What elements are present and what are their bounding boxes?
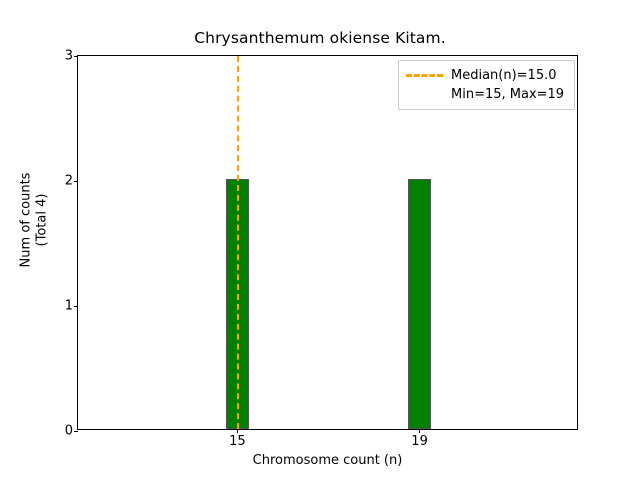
y-tick-mark bbox=[74, 306, 78, 307]
x-tick-mark bbox=[419, 429, 420, 433]
median-line bbox=[237, 56, 239, 429]
legend-label-median: Median(n)=15.0 bbox=[451, 68, 557, 83]
y-tick-label: 0 bbox=[65, 425, 73, 438]
legend-item-minmax: Min=15, Max=19 bbox=[406, 85, 567, 104]
x-axis-label: Chromosome count (n) bbox=[77, 453, 578, 468]
x-tick-mark bbox=[237, 429, 238, 433]
plot-inner bbox=[78, 56, 577, 429]
y-axis-label-line1: Num of counts bbox=[19, 173, 35, 268]
y-tick-label: 1 bbox=[65, 300, 73, 313]
legend-item-median: Median(n)=15.0 bbox=[406, 66, 567, 85]
legend-label-minmax: Min=15, Max=19 bbox=[451, 87, 564, 102]
y-axis-label: Num of counts (Total 4) bbox=[13, 33, 57, 408]
y-tick-mark bbox=[74, 56, 78, 57]
bar bbox=[408, 179, 431, 429]
plot-area: 0123 1519 bbox=[77, 55, 578, 430]
y-tick-label: 3 bbox=[65, 50, 73, 63]
x-tick-label: 19 bbox=[411, 435, 428, 449]
y-tick-label: 2 bbox=[65, 175, 73, 188]
dashed-line-icon bbox=[406, 74, 443, 77]
y-tick-mark bbox=[74, 181, 78, 182]
chart-legend: Median(n)=15.0 Min=15, Max=19 bbox=[398, 60, 575, 110]
y-axis-label-line2: (Total 4) bbox=[35, 194, 51, 247]
x-tick-label: 15 bbox=[229, 435, 246, 449]
chart-title: Chrysanthemum okiense Kitam. bbox=[0, 29, 640, 48]
chart-figure: Chrysanthemum okiense Kitam. 0123 1519 C… bbox=[0, 0, 640, 480]
y-tick-mark bbox=[74, 431, 78, 432]
